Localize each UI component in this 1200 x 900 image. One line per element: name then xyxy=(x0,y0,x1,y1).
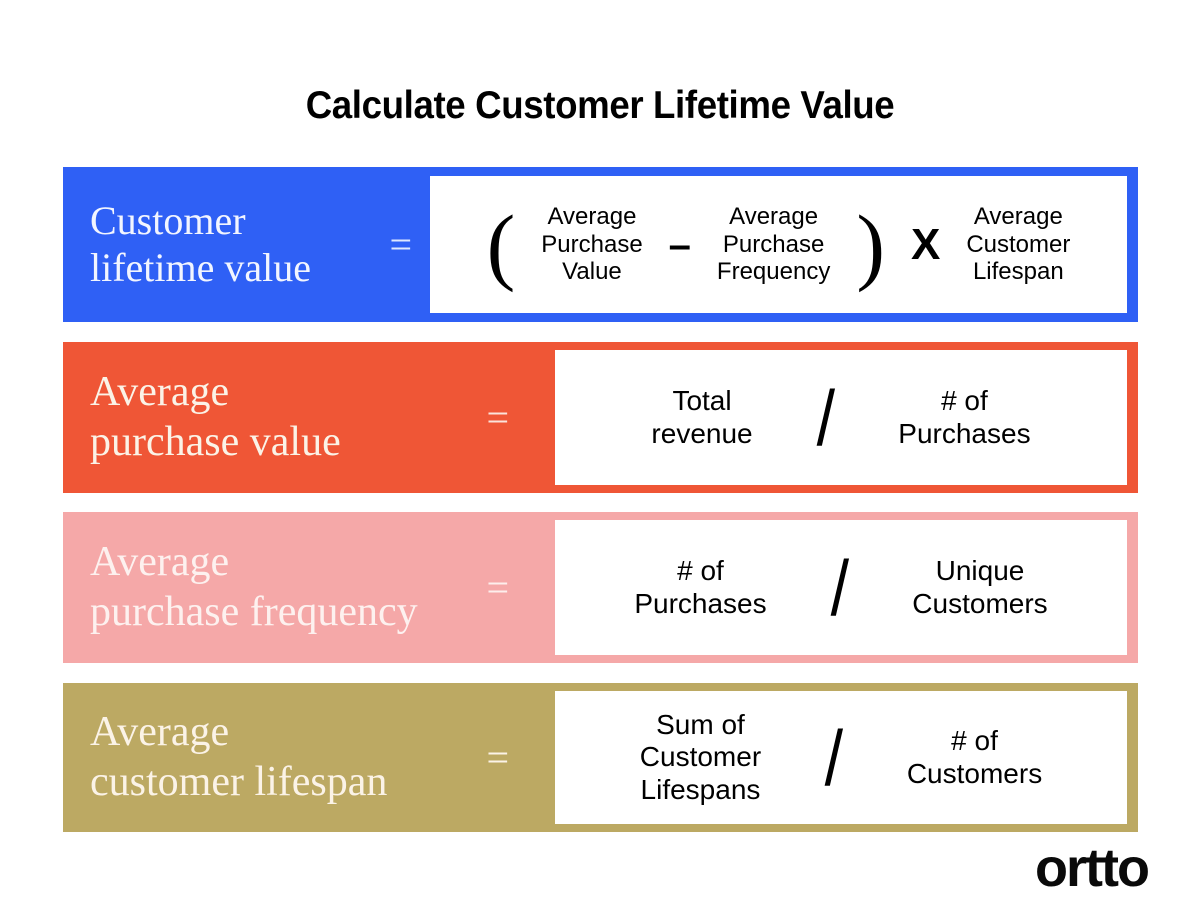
operator-divide: / xyxy=(825,719,843,797)
formula-panel: Total revenue / # of Purchases xyxy=(555,350,1127,485)
formula-panel: # of Purchases / Unique Customers xyxy=(555,520,1127,655)
row-label-block: Average purchase frequency = xyxy=(63,512,555,663)
formula-term-1: Total revenue xyxy=(651,385,752,450)
formula-term-2: Unique Customers xyxy=(912,555,1047,620)
row-label: Average purchase value xyxy=(90,368,486,466)
equals-sign: = xyxy=(486,398,555,438)
ortto-logo: ortto xyxy=(1035,841,1148,895)
operator-times: X xyxy=(911,223,940,267)
row-label-block: Average customer lifespan = xyxy=(63,683,555,832)
close-paren: ) xyxy=(856,202,885,288)
row-label-block: Customer lifetime value = xyxy=(63,167,430,322)
infographic-canvas: Calculate Customer Lifetime Value Custom… xyxy=(0,0,1200,900)
page-title: Calculate Customer Lifetime Value xyxy=(36,84,1164,128)
formula-term-1: Average Purchase Value xyxy=(541,203,642,286)
operator-divide: / xyxy=(830,549,848,627)
row-label: Average customer lifespan xyxy=(90,708,486,806)
formula-row-average-purchase-value: Average purchase value = Total revenue /… xyxy=(63,342,1138,493)
formula-term-3: Average Customer Lifespan xyxy=(966,203,1070,286)
formula-term-2: Average Purchase Frequency xyxy=(717,203,830,286)
equals-sign: = xyxy=(389,225,430,265)
formula-row-average-customer-lifespan: Average customer lifespan = Sum of Custo… xyxy=(63,683,1138,832)
equals-sign: = xyxy=(486,738,555,778)
formula-term-1: # of Purchases xyxy=(634,555,766,620)
row-label: Average purchase frequency xyxy=(90,538,486,636)
formula-panel: ( Average Purchase Value – Average Purch… xyxy=(430,176,1127,313)
operator-minus: – xyxy=(669,225,691,265)
formula-term-1: Sum of Customer Lifespans xyxy=(640,709,761,806)
operator-divide: / xyxy=(816,379,834,457)
open-paren: ( xyxy=(487,202,516,288)
formula-term-2: # of Purchases xyxy=(898,385,1030,450)
formula-panel: Sum of Customer Lifespans / # of Custome… xyxy=(555,691,1127,824)
formula-term-2: # of Customers xyxy=(907,725,1042,790)
row-label: Customer lifetime value xyxy=(90,198,389,292)
formula-row-average-purchase-frequency: Average purchase frequency = # of Purcha… xyxy=(63,512,1138,663)
row-label-block: Average purchase value = xyxy=(63,342,555,493)
equals-sign: = xyxy=(486,568,555,608)
formula-row-customer-lifetime-value: Customer lifetime value = ( Average Purc… xyxy=(63,167,1138,322)
